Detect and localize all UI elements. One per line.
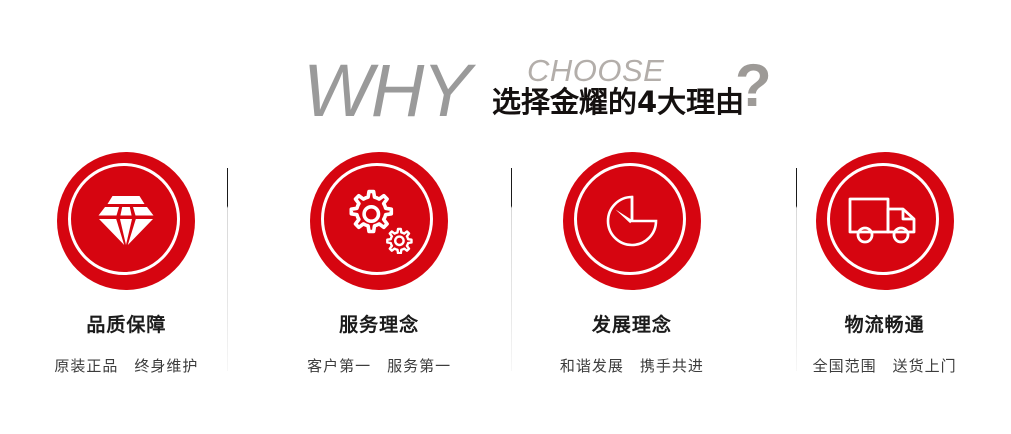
- feature-columns: 品质保障 原装正品 终身维护: [0, 148, 1011, 388]
- truck-icon: [816, 152, 954, 290]
- feature-column-logistics: 物流畅通 全国范围 送货上门: [758, 148, 1011, 388]
- choose-heading-text: CHOOSE: [527, 55, 664, 86]
- feature-icon-circle: [816, 152, 954, 290]
- feature-title: 品质保障: [86, 310, 166, 337]
- feature-icon-circle: [563, 152, 701, 290]
- banner-heading: WHY CHOOSE 选择金耀的4大理由 ?: [0, 36, 1011, 136]
- feature-subtitle: 原装正品 终身维护: [54, 355, 198, 376]
- why-choose-us-banner: WHY CHOOSE 选择金耀的4大理由 ?: [0, 0, 1011, 434]
- feature-column-quality: 品质保障 原装正品 终身维护: [0, 148, 253, 388]
- feature-subtitle: 全国范围 送货上门: [813, 355, 957, 376]
- feature-icon-circle: [310, 152, 448, 290]
- feature-title: 服务理念: [339, 310, 419, 337]
- feature-title: 物流畅通: [845, 310, 925, 337]
- feature-title: 发展理念: [592, 310, 672, 337]
- gears-icon: [310, 152, 448, 290]
- feature-subtitle: 和谐发展 携手共进: [560, 355, 704, 376]
- why-heading-text: WHY: [303, 54, 470, 128]
- diamond-icon: [57, 152, 195, 290]
- chinese-subtitle-text: 选择金耀的4大理由: [492, 88, 744, 117]
- question-mark-icon: ?: [735, 56, 772, 116]
- feature-subtitle: 客户第一 服务第一: [307, 355, 451, 376]
- stopwatch-icon: [563, 152, 701, 290]
- feature-column-service: 服务理念 客户第一 服务第一: [253, 148, 506, 388]
- feature-icon-circle: [57, 152, 195, 290]
- feature-column-development: 发展理念 和谐发展 携手共进: [506, 148, 759, 388]
